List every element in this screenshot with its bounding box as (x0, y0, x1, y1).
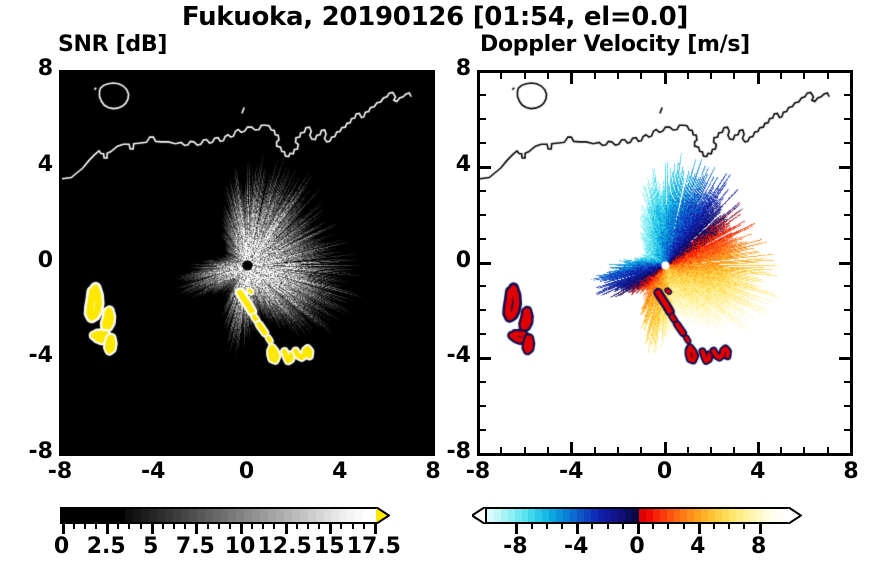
colorbar-minor-tick (140, 522, 142, 529)
snr-plot-area[interactable] (59, 70, 435, 456)
colorbar-minor-tick (561, 522, 563, 529)
x-minor-tick (269, 73, 271, 79)
colorbar-minor-tick (622, 522, 624, 529)
x-minor-tick (129, 447, 131, 453)
y-minor-tick (426, 94, 432, 96)
x-major-tick (664, 73, 667, 84)
y-axis-label-doppler-2: 0 (429, 248, 471, 273)
x-major-tick (757, 73, 760, 84)
x-major-tick (477, 442, 480, 453)
x-minor-tick (500, 447, 502, 453)
colorbar-minor-tick (273, 522, 275, 529)
x-minor-tick (780, 447, 782, 453)
y-minor-tick (844, 285, 850, 287)
x-major-tick (850, 442, 853, 453)
y-minor-tick (62, 381, 68, 383)
colorbar-minor-tick (683, 522, 685, 529)
colorbar-minor-tick (296, 522, 298, 529)
y-minor-tick (480, 405, 486, 407)
colorbar-minor-tick (591, 522, 593, 529)
y-minor-tick (480, 142, 486, 144)
y-minor-tick (426, 118, 432, 120)
y-minor-tick (844, 190, 850, 192)
x-minor-tick (803, 447, 805, 453)
y-minor-tick (844, 381, 850, 383)
colorbar-minor-tick (531, 522, 533, 529)
colorbar-major-tick (240, 522, 243, 534)
x-minor-tick (733, 73, 735, 79)
y-minor-tick (62, 333, 68, 335)
x-minor-tick (222, 447, 224, 453)
y-minor-tick (62, 118, 68, 120)
colorbar-major-tick (374, 522, 377, 534)
x-axis-label-doppler-2: 0 (635, 459, 695, 484)
x-minor-tick (710, 447, 712, 453)
x-minor-tick (292, 447, 294, 453)
y-major-tick (62, 357, 73, 360)
colorbar-major-tick (151, 522, 154, 534)
y-major-tick (480, 166, 491, 169)
y-axis-label-doppler-3: -4 (429, 343, 471, 368)
colorbar-minor-tick (352, 522, 354, 529)
x-axis-label-snr-3: 4 (310, 459, 370, 484)
y-major-tick (62, 166, 73, 169)
x-axis-label-snr-2: 0 (217, 459, 277, 484)
y-minor-tick (62, 285, 68, 287)
x-major-tick (850, 73, 853, 84)
colorbar-minor-tick (667, 522, 669, 529)
colorbar-minor-tick (262, 522, 264, 529)
x-major-tick (246, 73, 249, 84)
y-major-tick (62, 453, 73, 456)
page-title: Fukuoka, 20190126 [01:54, el=0.0] (0, 2, 870, 32)
y-major-tick (480, 262, 491, 265)
x-minor-tick (547, 73, 549, 79)
y-axis-label-snr-1: 4 (11, 152, 53, 177)
y-minor-tick (480, 214, 486, 216)
colorbar-minor-tick (340, 522, 342, 529)
y-major-tick (480, 357, 491, 360)
x-minor-tick (315, 73, 317, 79)
y-major-tick (839, 357, 850, 360)
x-minor-tick (82, 447, 84, 453)
x-major-tick (339, 442, 342, 453)
y-minor-tick (844, 142, 850, 144)
y-minor-tick (844, 94, 850, 96)
x-minor-tick (82, 73, 84, 79)
x-major-tick (246, 442, 249, 453)
x-minor-tick (199, 447, 201, 453)
y-minor-tick (62, 94, 68, 96)
x-axis-label-snr-1: -4 (123, 459, 183, 484)
y-minor-tick (480, 118, 486, 120)
colorbar-major-tick (698, 522, 701, 534)
x-minor-tick (687, 447, 689, 453)
x-minor-tick (176, 447, 178, 453)
x-minor-tick (222, 73, 224, 79)
colorbar-minor-tick (318, 522, 320, 529)
x-minor-tick (640, 73, 642, 79)
y-minor-tick (844, 405, 850, 407)
colorbar-minor-tick (363, 522, 365, 529)
snr-colorbar-label-7: 17.5 (334, 534, 414, 559)
y-minor-tick (426, 142, 432, 144)
y-minor-tick (426, 405, 432, 407)
x-minor-tick (594, 73, 596, 79)
x-minor-tick (617, 447, 619, 453)
x-minor-tick (385, 73, 387, 79)
colorbar-minor-tick (307, 522, 309, 529)
colorbar-major-tick (285, 522, 288, 534)
colorbar-major-tick (62, 522, 65, 534)
y-minor-tick (480, 190, 486, 192)
x-minor-tick (594, 447, 596, 453)
y-axis-label-snr-2: 0 (11, 248, 53, 273)
doppler-plot-area[interactable] (477, 70, 853, 456)
colorbar-major-tick (106, 522, 109, 534)
x-minor-tick (547, 447, 549, 453)
x-major-tick (570, 73, 573, 84)
y-minor-tick (62, 214, 68, 216)
x-minor-tick (129, 73, 131, 79)
colorbar-major-tick (576, 522, 579, 534)
x-minor-tick (106, 447, 108, 453)
colorbar-minor-tick (229, 522, 231, 529)
y-axis-label-doppler-4: -8 (429, 439, 471, 464)
y-axis-label-snr-3: -4 (11, 343, 53, 368)
colorbar-major-tick (515, 522, 518, 534)
y-minor-tick (426, 309, 432, 311)
y-minor-tick (62, 190, 68, 192)
panel-title-snr: SNR [dB] (58, 32, 167, 57)
colorbar-minor-tick (117, 522, 119, 529)
x-major-tick (570, 442, 573, 453)
x-minor-tick (409, 447, 411, 453)
y-axis-label-snr-4: -8 (11, 439, 53, 464)
x-axis-label-doppler-4: 8 (821, 459, 870, 484)
colorbar-minor-tick (207, 522, 209, 529)
x-major-tick (152, 73, 155, 84)
colorbar-minor-tick (95, 522, 97, 529)
colorbar-minor-tick (73, 522, 75, 529)
y-major-tick (480, 453, 491, 456)
y-minor-tick (480, 309, 486, 311)
x-major-tick (757, 442, 760, 453)
y-minor-tick (426, 381, 432, 383)
x-minor-tick (362, 73, 364, 79)
colorbar-minor-tick (251, 522, 253, 529)
y-major-tick (62, 262, 73, 265)
y-minor-tick (426, 190, 432, 192)
y-minor-tick (844, 238, 850, 240)
y-minor-tick (480, 94, 486, 96)
colorbar-minor-tick (218, 522, 220, 529)
x-minor-tick (827, 447, 829, 453)
colorbar-major-tick (759, 522, 762, 534)
x-minor-tick (803, 73, 805, 79)
y-minor-tick (480, 429, 486, 431)
colorbar-minor-tick (743, 522, 745, 529)
x-major-tick (59, 73, 62, 84)
x-major-tick (59, 442, 62, 453)
colorbar-major-tick (329, 522, 332, 534)
x-axis-label-doppler-1: -4 (541, 459, 601, 484)
x-major-tick (339, 73, 342, 84)
doppler-colorbar-label-4: 8 (719, 534, 799, 559)
panel-title-doppler: Doppler Velocity [m/s] (480, 32, 750, 57)
y-axis-label-snr-0: 8 (11, 56, 53, 81)
x-minor-tick (176, 73, 178, 79)
doppler-colorbar-right-cap (788, 507, 801, 523)
x-minor-tick (524, 73, 526, 79)
y-major-tick (480, 70, 491, 73)
x-major-tick (477, 73, 480, 84)
y-minor-tick (62, 429, 68, 431)
x-minor-tick (524, 447, 526, 453)
y-minor-tick (480, 238, 486, 240)
y-minor-tick (62, 405, 68, 407)
colorbar-major-tick (195, 522, 198, 534)
x-minor-tick (269, 447, 271, 453)
y-minor-tick (426, 285, 432, 287)
y-minor-tick (844, 333, 850, 335)
colorbar-minor-tick (184, 522, 186, 529)
x-minor-tick (199, 73, 201, 79)
colorbar-minor-tick (162, 522, 164, 529)
y-axis-label-doppler-0: 8 (429, 56, 471, 81)
y-minor-tick (480, 381, 486, 383)
x-minor-tick (780, 73, 782, 79)
x-major-tick (152, 442, 155, 453)
y-minor-tick (480, 285, 486, 287)
y-major-tick (62, 70, 73, 73)
y-minor-tick (62, 238, 68, 240)
y-minor-tick (426, 214, 432, 216)
y-minor-tick (426, 333, 432, 335)
x-minor-tick (710, 73, 712, 79)
doppler-colorbar-left-cap (472, 507, 485, 523)
y-major-tick (839, 70, 850, 73)
colorbar-minor-tick (546, 522, 548, 529)
colorbar-minor-tick (652, 522, 654, 529)
snr-colorbar-right-cap (376, 507, 389, 523)
x-minor-tick (409, 73, 411, 79)
y-minor-tick (426, 429, 432, 431)
x-minor-tick (617, 73, 619, 79)
x-minor-tick (827, 73, 829, 79)
y-major-tick (839, 262, 850, 265)
y-minor-tick (480, 333, 486, 335)
y-major-tick (839, 166, 850, 169)
y-minor-tick (62, 142, 68, 144)
y-minor-tick (844, 214, 850, 216)
y-minor-tick (844, 429, 850, 431)
x-minor-tick (687, 73, 689, 79)
y-minor-tick (844, 118, 850, 120)
y-major-tick (839, 453, 850, 456)
x-minor-tick (733, 447, 735, 453)
colorbar-minor-tick (728, 522, 730, 529)
x-axis-label-doppler-3: 4 (728, 459, 788, 484)
colorbar-minor-tick (173, 522, 175, 529)
y-minor-tick (62, 309, 68, 311)
x-major-tick (664, 442, 667, 453)
colorbar-minor-tick (713, 522, 715, 529)
x-minor-tick (106, 73, 108, 79)
x-minor-tick (500, 73, 502, 79)
colorbar-minor-tick (128, 522, 130, 529)
x-minor-tick (385, 447, 387, 453)
y-axis-label-doppler-1: 4 (429, 152, 471, 177)
y-minor-tick (844, 309, 850, 311)
x-minor-tick (292, 73, 294, 79)
y-minor-tick (426, 238, 432, 240)
colorbar-minor-tick (84, 522, 86, 529)
x-minor-tick (315, 447, 317, 453)
x-minor-tick (640, 447, 642, 453)
x-minor-tick (362, 447, 364, 453)
colorbar-minor-tick (607, 522, 609, 529)
colorbar-major-tick (637, 522, 640, 534)
